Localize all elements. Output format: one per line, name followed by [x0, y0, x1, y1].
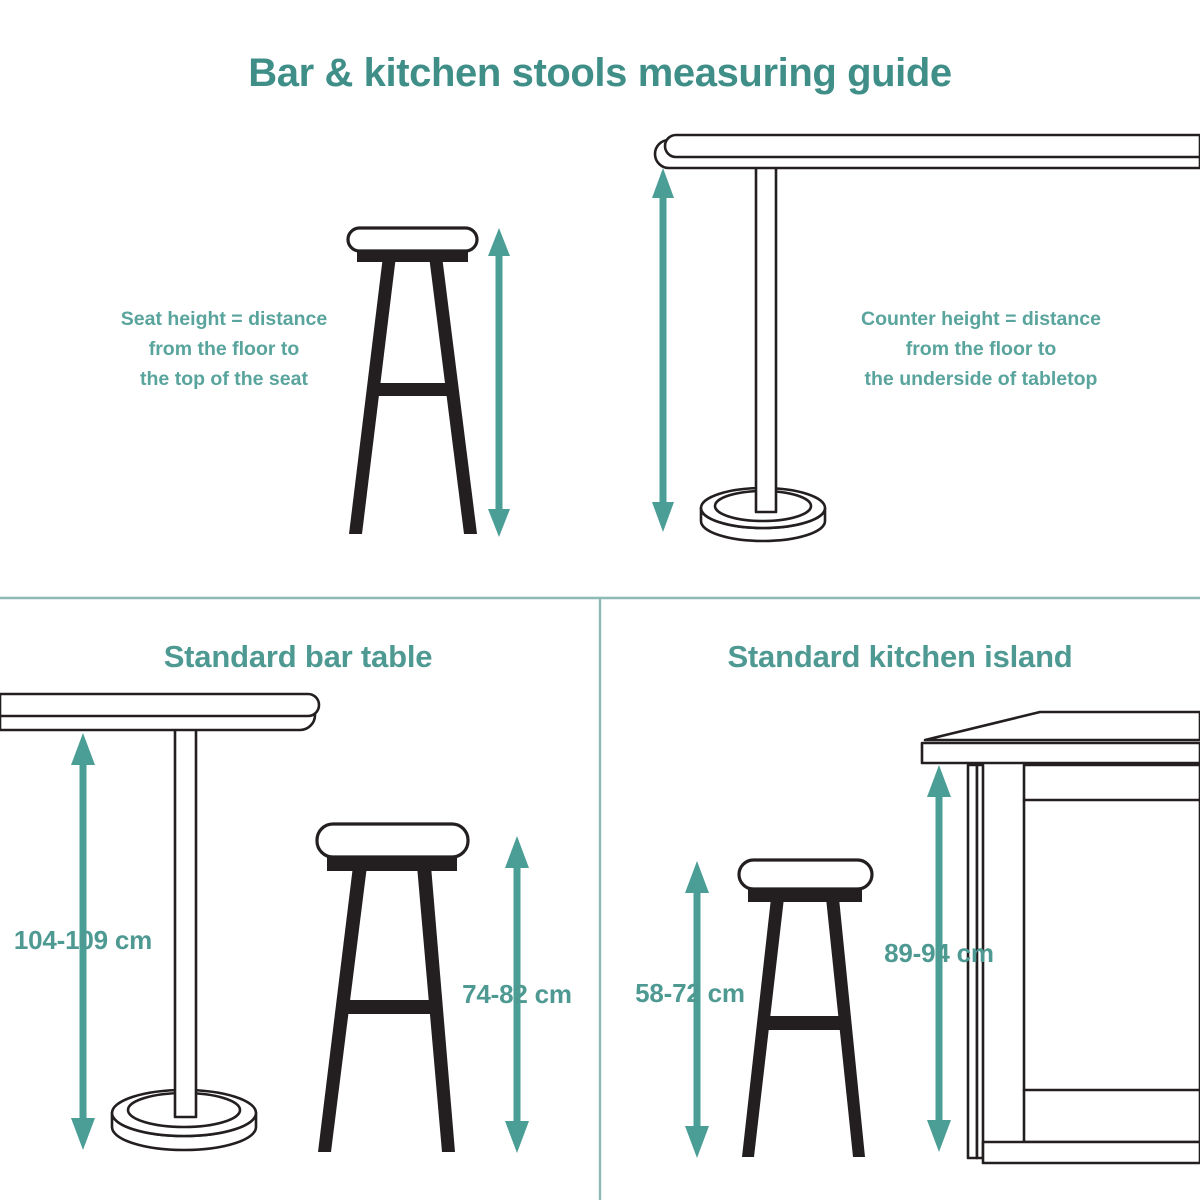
- bar-table-arrow-head-up: [71, 733, 95, 765]
- island-countertop-edge: [922, 743, 1200, 763]
- island-toe-kick: [983, 1142, 1200, 1163]
- bar-table-dimension-label: 104-109 cm: [14, 925, 152, 955]
- bar-table-illustration: [0, 694, 319, 1150]
- seat-height-arrow-head-down: [488, 509, 510, 537]
- bar-table-heading: Standard bar table: [164, 639, 433, 674]
- table-column: [756, 160, 776, 512]
- island-cabinet-body: [1024, 765, 1200, 1142]
- stool-crossbar: [378, 383, 448, 396]
- table-top-right: [655, 135, 1200, 168]
- counter-height-caption-line2: from the floor to: [906, 338, 1057, 360]
- bar-stool-arrow-head-down: [505, 1121, 529, 1153]
- seat-height-caption-line2: from the floor to: [149, 338, 300, 360]
- counter-stool-arrow-head-down: [685, 1126, 709, 1158]
- bar-table-top-surface: [0, 694, 319, 716]
- counter-stool-crossbar: [762, 1016, 846, 1030]
- top-right-illustration-group: Counter height = distance from the floor…: [652, 135, 1200, 541]
- island-arrow-head-down: [927, 1120, 951, 1152]
- counter-height-caption-line1: Counter height = distance: [861, 308, 1101, 330]
- counter-height-arrow: [652, 168, 674, 532]
- bottom-left-panel: Standard bar table 104-109 cm: [0, 639, 572, 1153]
- top-left-illustration-group: Seat height = distance from the floor to…: [121, 228, 510, 537]
- bar-stool-crossbar: [344, 1000, 438, 1014]
- counter-height-caption: Counter height = distance from the floor…: [861, 308, 1101, 390]
- counter-height-arrow-head-down: [652, 502, 674, 532]
- bar-stool-seat-top: [317, 824, 468, 857]
- bar-stool-dimension-label: 74-82 cm: [462, 979, 572, 1009]
- bar-table-column: [175, 722, 196, 1117]
- seat-height-arrow-head-up: [488, 228, 510, 256]
- island-countertop-surface: [925, 712, 1200, 740]
- counter-stool-illustration: [739, 860, 872, 1157]
- counter-stool-dimension-label: 58-72 cm: [635, 978, 745, 1008]
- seat-height-arrow: [488, 228, 510, 537]
- tabletop-surface: [665, 135, 1200, 157]
- counter-height-caption-line3: the underside of tabletop: [865, 368, 1098, 390]
- counter-stool-height-arrow: [685, 861, 709, 1158]
- seat-height-caption-line3: the top of the seat: [140, 368, 308, 390]
- counter-height-arrow-head-up: [652, 168, 674, 198]
- seat-height-caption-line1: Seat height = distance: [121, 308, 328, 330]
- bottom-right-panel: Standard kitchen island: [635, 639, 1200, 1163]
- counter-stool-arrow-head-up: [685, 861, 709, 893]
- island-arrow-head-up: [927, 765, 951, 797]
- seat-height-caption: Seat height = distance from the floor to…: [121, 308, 328, 390]
- kitchen-island-dimension-label: 89-94 cm: [884, 938, 994, 968]
- counter-stool-seat-top: [739, 860, 872, 889]
- bar-stool-arrow-head-up: [505, 836, 529, 868]
- stool-seat-top: [348, 228, 477, 251]
- bar-stool-illustration: [317, 824, 468, 1152]
- bar-table-arrow-head-down: [71, 1118, 95, 1150]
- kitchen-island-heading: Standard kitchen island: [727, 639, 1072, 674]
- infographic-artwork: Bar & kitchen stools measuring guide: [0, 0, 1200, 1200]
- stool-frame-top-left: [349, 256, 477, 534]
- infographic-canvas: Bar & kitchen stools measuring guide: [0, 0, 1200, 1200]
- page-title: Bar & kitchen stools measuring guide: [248, 51, 952, 95]
